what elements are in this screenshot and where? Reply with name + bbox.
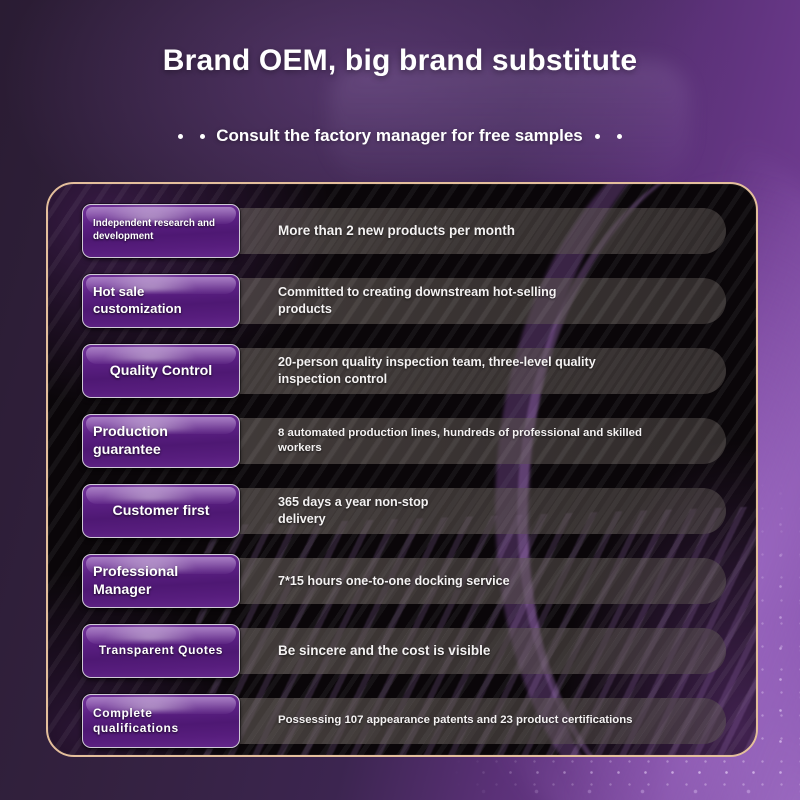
feature-tag-label: Complete qualifications bbox=[83, 706, 239, 737]
feature-description-line1: More than 2 new products per month bbox=[278, 222, 710, 240]
background-top-texture bbox=[330, 60, 690, 180]
feature-row-list: Independent research and developmentMore… bbox=[48, 184, 756, 755]
feature-description: More than 2 new products per month bbox=[278, 208, 710, 254]
bullet-dot-right-outer bbox=[617, 134, 622, 139]
feature-tag-button[interactable]: Professional Manager bbox=[82, 554, 240, 608]
feature-tag-label: Professional Manager bbox=[83, 563, 239, 599]
feature-description-line2: products bbox=[278, 301, 710, 318]
feature-tag-label: Production guarantee bbox=[83, 423, 239, 459]
feature-row: Transparent QuotesBe sincere and the cos… bbox=[82, 628, 726, 674]
feature-description: 365 days a year non-stopdelivery bbox=[278, 488, 710, 534]
feature-description: Committed to creating downstream hot-sel… bbox=[278, 278, 710, 324]
feature-description-line1: Be sincere and the cost is visible bbox=[278, 642, 710, 660]
features-card: Independent research and developmentMore… bbox=[46, 182, 758, 757]
feature-tag-button[interactable]: Production guarantee bbox=[82, 414, 240, 468]
feature-tag-label: Customer first bbox=[83, 502, 239, 520]
feature-tag-button[interactable]: Customer first bbox=[82, 484, 240, 538]
feature-tag-button[interactable]: Complete qualifications bbox=[82, 694, 240, 748]
page-subtitle: Consult the factory manager for free sam… bbox=[0, 126, 800, 146]
feature-description: Be sincere and the cost is visible bbox=[278, 628, 710, 674]
feature-tag-button[interactable]: Transparent Quotes bbox=[82, 624, 240, 678]
feature-tag-label: Quality Control bbox=[83, 362, 239, 380]
feature-description-line2: inspection control bbox=[278, 371, 710, 388]
feature-description-line1: 365 days a year non-stop bbox=[278, 494, 710, 511]
page-subtitle-text: Consult the factory manager for free sam… bbox=[216, 126, 583, 146]
feature-row: Professional Manager7*15 hours one-to-on… bbox=[82, 558, 726, 604]
bullet-dot-right-inner bbox=[595, 134, 600, 139]
feature-tag-button[interactable]: Hot sale customization bbox=[82, 274, 240, 328]
feature-description: 8 automated production lines, hundreds o… bbox=[278, 418, 710, 464]
feature-description: 7*15 hours one-to-one docking service bbox=[278, 558, 710, 604]
feature-description-line2: workers bbox=[278, 441, 710, 456]
feature-tag-label: Hot sale customization bbox=[83, 284, 239, 318]
feature-tag-label: Transparent Quotes bbox=[83, 643, 239, 658]
feature-row: Hot sale customizationCommitted to creat… bbox=[82, 278, 726, 324]
bullet-dot-left-inner bbox=[200, 134, 205, 139]
gloss-highlight-icon bbox=[102, 624, 199, 641]
bullet-dot-left-outer bbox=[178, 134, 183, 139]
feature-description: 20-person quality inspection team, three… bbox=[278, 348, 710, 394]
gloss-highlight-icon bbox=[102, 344, 199, 361]
feature-tag-button[interactable]: Independent research and development bbox=[82, 204, 240, 258]
poster-stage: Brand OEM, big brand substitute Consult … bbox=[0, 0, 800, 800]
feature-row: Independent research and developmentMore… bbox=[82, 208, 726, 254]
feature-description-line1: Committed to creating downstream hot-sel… bbox=[278, 284, 710, 301]
feature-row: Customer first365 days a year non-stopde… bbox=[82, 488, 726, 534]
feature-row: Quality Control20-person quality inspect… bbox=[82, 348, 726, 394]
feature-description-line1: 20-person quality inspection team, three… bbox=[278, 354, 710, 371]
feature-row: Complete qualificationsPossessing 107 ap… bbox=[82, 698, 726, 744]
feature-description-line1: Possessing 107 appearance patents and 23… bbox=[278, 713, 710, 728]
feature-tag-button[interactable]: Quality Control bbox=[82, 344, 240, 398]
gloss-highlight-icon bbox=[102, 484, 199, 501]
feature-description: Possessing 107 appearance patents and 23… bbox=[278, 698, 710, 744]
feature-description-line1: 8 automated production lines, hundreds o… bbox=[278, 426, 710, 441]
feature-tag-label: Independent research and development bbox=[83, 218, 239, 243]
page-title: Brand OEM, big brand substitute bbox=[0, 44, 800, 78]
feature-description-line2: delivery bbox=[278, 511, 710, 528]
feature-description-line1: 7*15 hours one-to-one docking service bbox=[278, 573, 710, 590]
feature-row: Production guarantee8 automated producti… bbox=[82, 418, 726, 464]
